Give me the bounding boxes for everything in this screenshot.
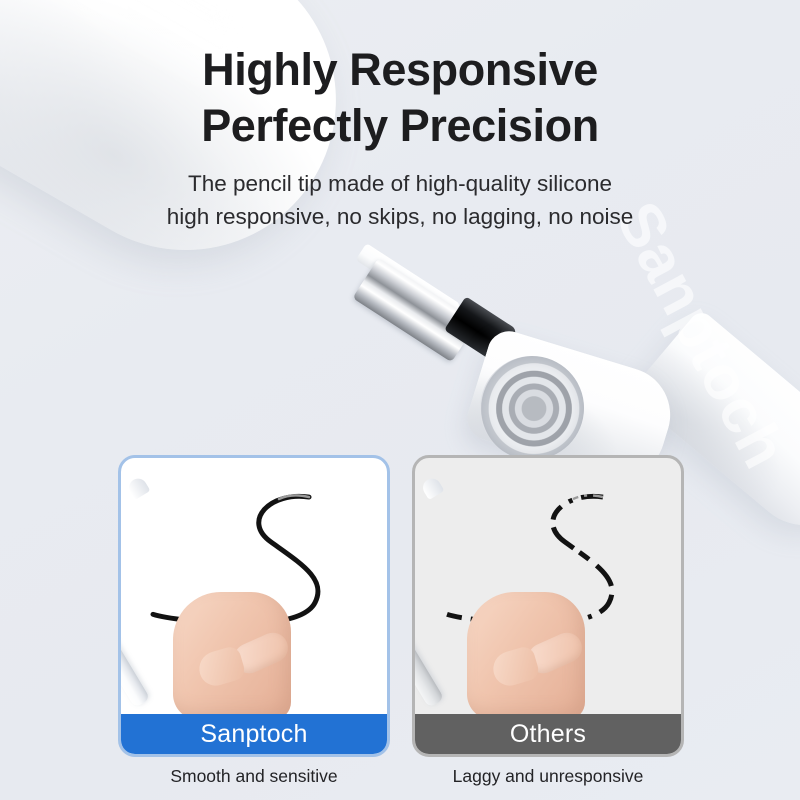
subhead-line-2: high responsive, no skips, no lagging, n…	[0, 201, 800, 234]
card-label-sanptoch: Sanptoch	[121, 714, 387, 754]
comparison-card-sanptoch: Sanptoch	[118, 455, 390, 757]
comparison-card-others: Others	[412, 455, 684, 757]
nib-tip-end-photo	[487, 328, 517, 362]
comparison-column-sanptoch: Sanptoch Smooth and sensitive	[118, 455, 390, 800]
headline-line-2: Perfectly Precision	[0, 98, 800, 154]
page-subtitle: The pencil tip made of high-quality sili…	[0, 168, 800, 233]
headline-line-1: Highly Responsive	[0, 42, 800, 98]
comparison-section: Sanptoch Smooth and sensitive	[118, 455, 684, 800]
metal-shaft-photo	[352, 258, 477, 363]
black-silicone-nib-photo	[444, 296, 518, 363]
brand-watermark: Sanptoch	[601, 191, 800, 481]
cap-inner-rings-photo	[467, 343, 597, 473]
card-label-others: Others	[415, 714, 681, 754]
comparison-column-others: Others Laggy and unresponsive	[412, 455, 684, 800]
hand-thumb	[195, 645, 247, 690]
page-title: Highly Responsive Perfectly Precision	[0, 42, 800, 154]
drawing-canvas-others	[415, 458, 681, 714]
product-banner: Sanptoch Highly Responsive Perfectly Pre…	[0, 0, 800, 800]
metal-shaft-top-photo	[356, 243, 461, 321]
subhead-line-1: The pencil tip made of high-quality sili…	[0, 168, 800, 201]
hand-thumb	[489, 645, 541, 690]
hand-photo	[467, 592, 585, 714]
card-caption-others: Laggy and unresponsive	[412, 766, 684, 787]
drawing-canvas-sanptoch	[121, 458, 387, 714]
card-caption-sanptoch: Smooth and sensitive	[118, 766, 390, 787]
hand-photo	[173, 592, 291, 714]
